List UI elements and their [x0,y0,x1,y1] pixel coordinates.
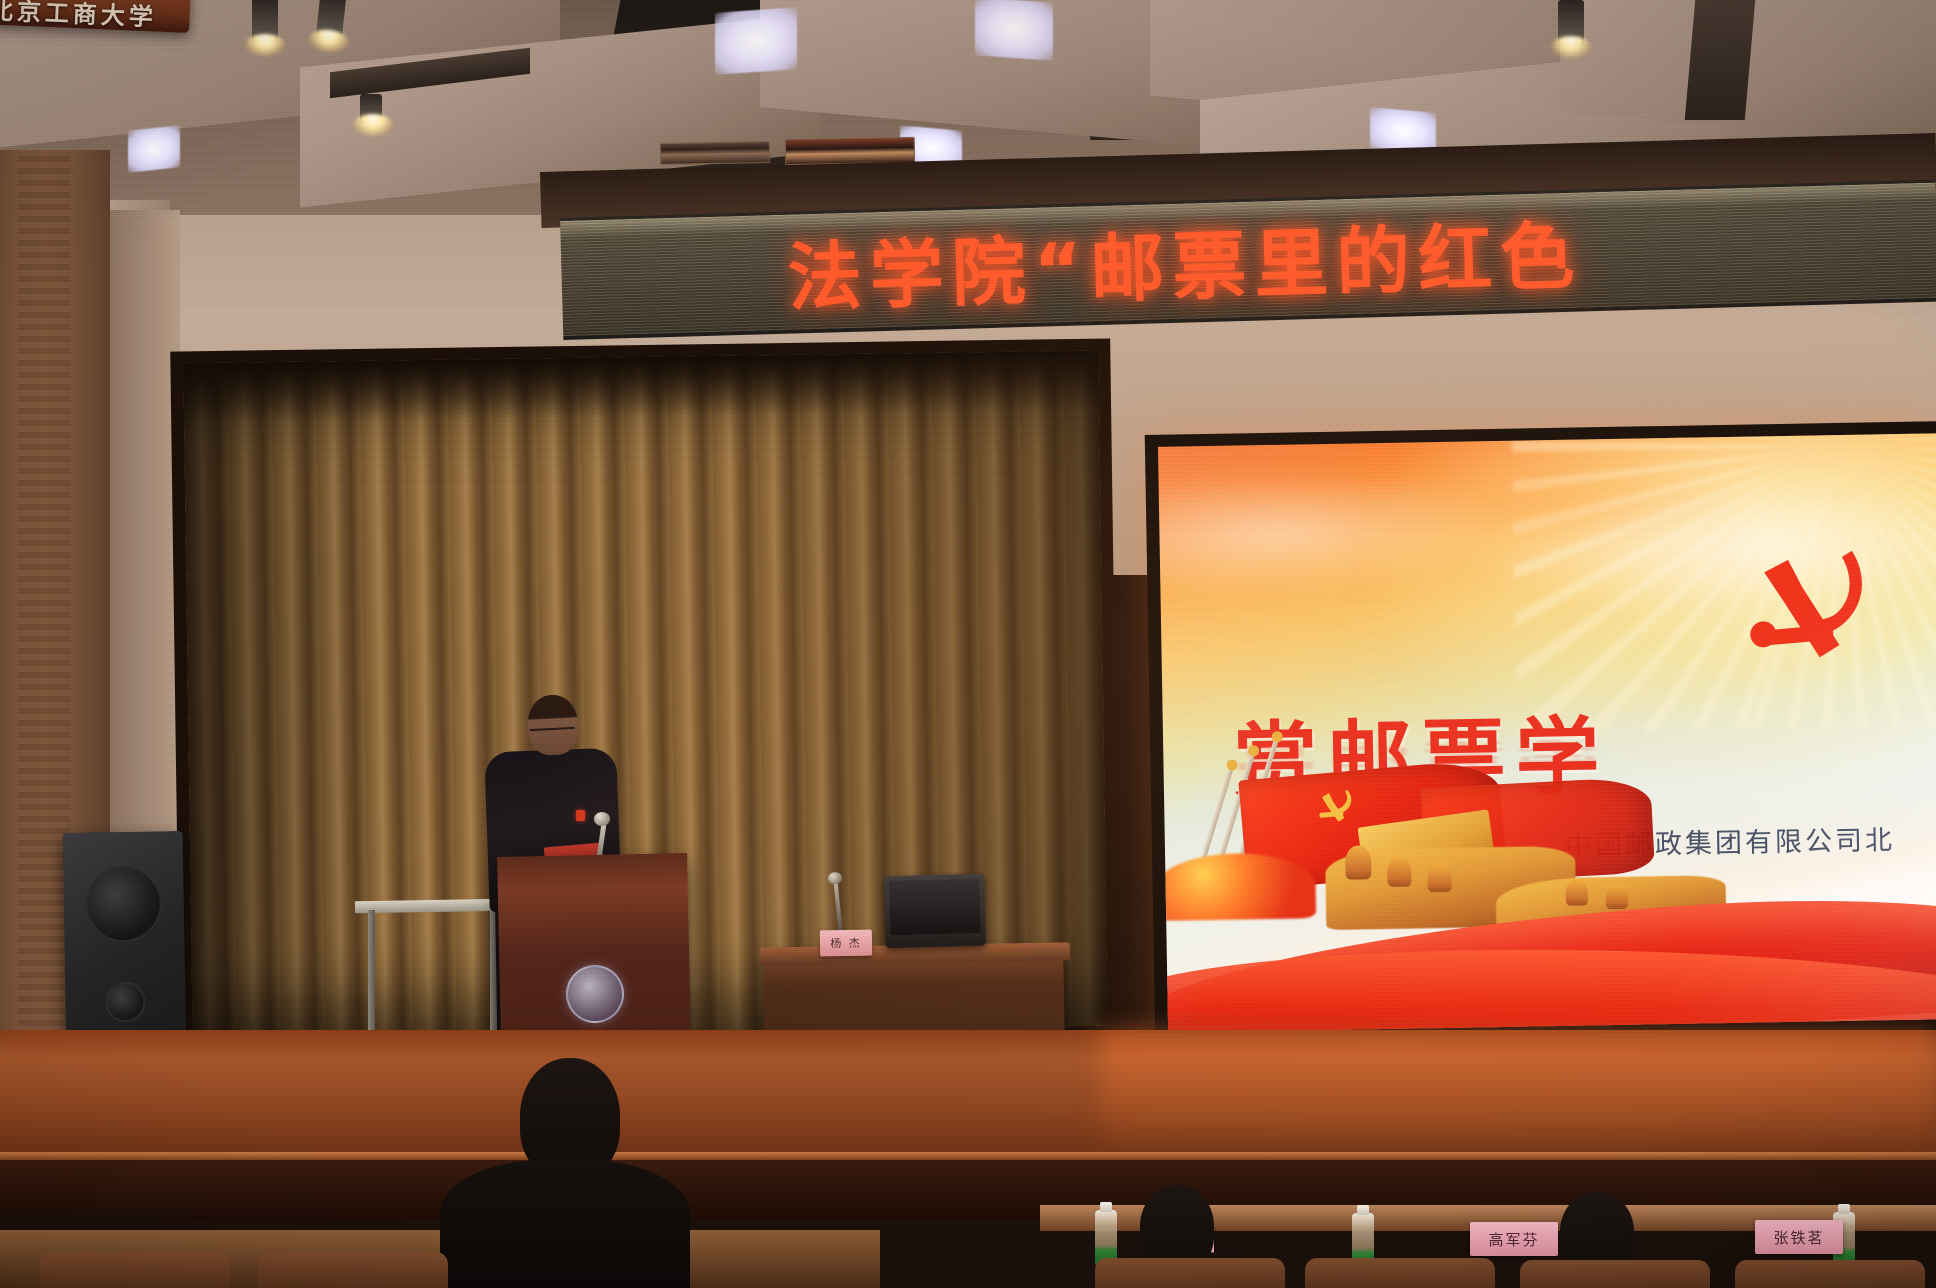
monument-figure-2 [1387,857,1412,887]
ceiling-slot-vent [1685,0,1755,120]
curtain-top-shadow [183,351,1099,424]
audience-seat-6 [1735,1260,1925,1288]
audience-name-card-1: 高军芬 [1470,1222,1558,1256]
audience-seat-1 [40,1252,230,1288]
audience-seat-4 [1305,1258,1495,1288]
recessed-downlight-1 [128,125,180,172]
audience-seat-5 [1520,1260,1710,1288]
audience-seat-2 [258,1252,448,1288]
stage-spotlight-2 [316,0,347,41]
stage-spotlight-3 [360,94,382,124]
recessed-downlight-5 [975,0,1053,61]
monument-figure-5 [1606,885,1628,909]
stage-spotlight-4 [1558,0,1584,46]
flower-mound-left [1158,852,1316,921]
monument-figure-1 [1345,845,1372,879]
wall-wood-column-texture [18,150,70,1050]
speaker-driver-tweeter [105,982,146,1023]
audience-name-card-2: 张铁茗 [1755,1220,1843,1254]
audience-seat-3 [1095,1258,1285,1288]
stage-monitor[interactable] [884,874,986,949]
flag-hammer-sickle-icon [1314,787,1361,824]
speaker-driver-woofer [85,865,162,942]
stage-spotlight-1 [252,0,278,44]
stage-floor-reflection [1100,1030,1936,1165]
ac-vent-4 [785,137,915,165]
audience-shoulders-1 [440,1160,690,1288]
monument-figure-4 [1566,879,1588,905]
university-seal-icon [565,964,624,1023]
stage-monitor-screen [889,879,980,935]
recessed-downlight-4 [715,7,797,75]
ac-vent-1 [660,141,770,165]
projection-screen: 赏邮票学 赏邮票学 中国邮政集团有限公司北 [1158,433,1936,1033]
monument-figure-3 [1427,864,1451,892]
podium-microphone-head [594,812,610,826]
slide-monument-graphic [1163,750,1936,1033]
hammer-and-sickle-icon [1734,542,1896,670]
table-nameplate: 杨 杰 [820,930,872,957]
lecture-hall-photo: 法学院“邮票里的红色 赏邮票学 赏邮票学 中国邮政集团有限公司北 [0,0,1936,1288]
party-lapel-pin [576,810,585,821]
